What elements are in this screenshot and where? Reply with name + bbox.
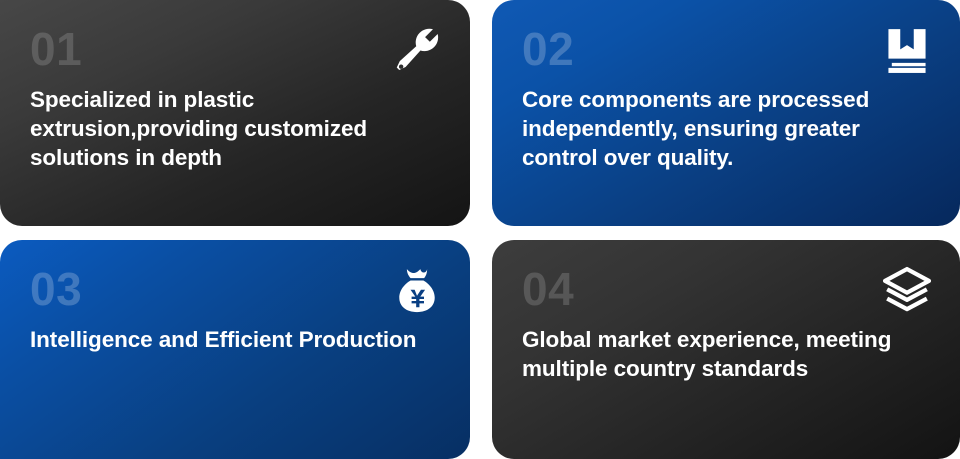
card-03-content: 03 Intelligence and Efficient Production [0,240,470,459]
feature-card-01[interactable]: 01 Specialized in plastic extrusion,prov… [0,0,470,226]
book-bookmark-icon [880,24,934,78]
card-03-number: 03 [30,266,440,312]
card-03-text: Intelligence and Efficient Production [30,326,424,355]
card-04-number: 04 [522,266,930,312]
feature-card-03[interactable]: 03 Intelligence and Efficient Production [0,240,470,459]
card-04-content: 04 Global market experience, meeting mul… [492,240,960,459]
feature-card-grid: 01 Specialized in plastic extrusion,prov… [0,0,960,459]
card-02-content: 02 Core components are processed indepen… [492,0,960,226]
feature-card-02[interactable]: 02 Core components are processed indepen… [492,0,960,226]
card-02-text: Core components are processed independen… [522,86,914,172]
card-02-number: 02 [522,26,930,72]
wrench-icon [390,24,444,78]
card-01-number: 01 [30,26,440,72]
layers-stack-icon [880,264,934,318]
card-04-text: Global market experience, meeting multip… [522,326,914,384]
card-01-text: Specialized in plastic extrusion,providi… [30,86,424,172]
feature-card-04[interactable]: 04 Global market experience, meeting mul… [492,240,960,459]
card-01-content: 01 Specialized in plastic extrusion,prov… [0,0,470,226]
money-bag-yen-icon [390,264,444,318]
